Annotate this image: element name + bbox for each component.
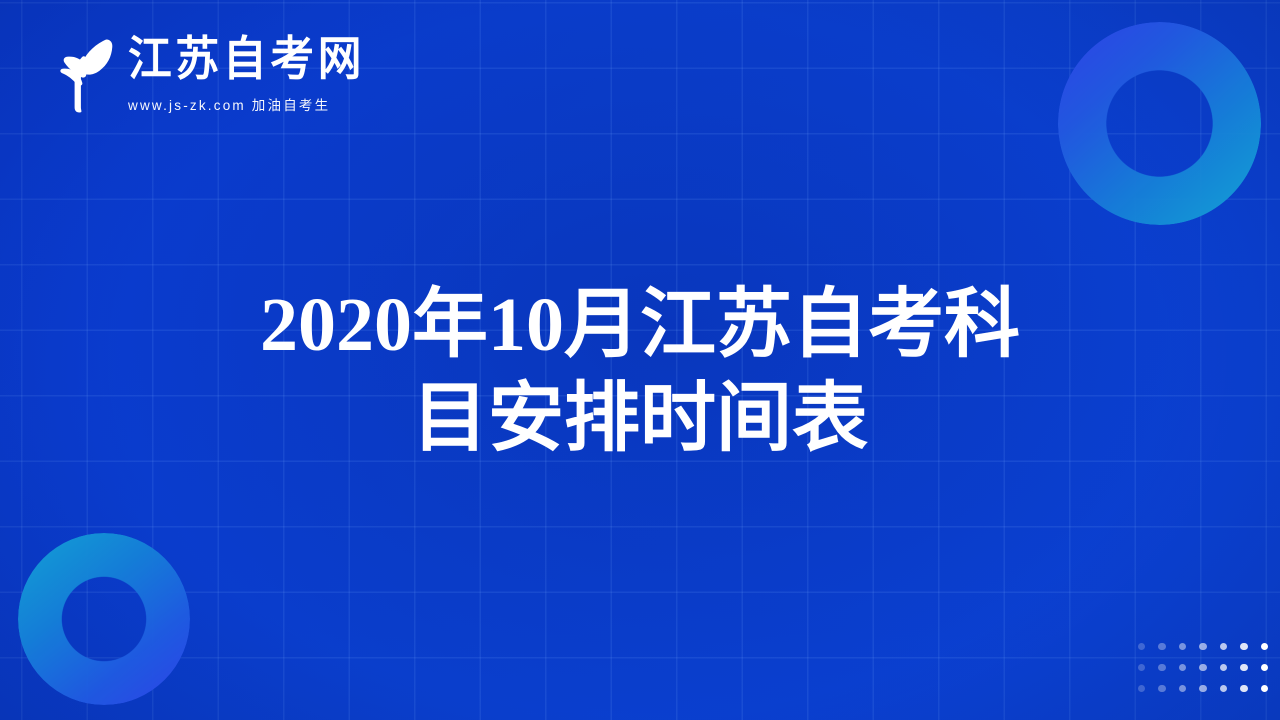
poster-canvas: 江苏自考网 www.js-zk.com 加油自考生 2020年10月江苏自考科 …: [0, 0, 1280, 720]
dot: [1240, 664, 1248, 672]
logo-wordmark: 江苏自考网: [128, 35, 365, 82]
dot: [1240, 643, 1248, 651]
dot-grid-decoration: [1131, 636, 1275, 699]
logo-tagline: www.js-zk.com 加油自考生: [128, 94, 383, 114]
dot: [1261, 664, 1269, 672]
ring-top-right-decoration: [1058, 22, 1261, 225]
logo-text-block: 江苏自考网 www.js-zk.com 加油自考生: [128, 35, 383, 114]
dot: [1240, 685, 1248, 693]
dot: [1158, 664, 1166, 672]
dot: [1138, 643, 1146, 651]
site-logo[interactable]: 江苏自考网 www.js-zk.com 加油自考生: [32, 28, 383, 120]
dot: [1179, 664, 1187, 672]
dot: [1199, 643, 1207, 651]
page-title-line-2: 目安排时间表: [0, 372, 1280, 466]
dot: [1158, 643, 1166, 651]
dot: [1220, 664, 1228, 672]
dot: [1179, 685, 1187, 693]
dot: [1199, 664, 1207, 672]
dot: [1138, 685, 1146, 693]
page-title-line-1: 2020年10月江苏自考科: [0, 278, 1280, 372]
dot: [1220, 643, 1228, 651]
sprout-icon: [32, 28, 124, 120]
dot: [1199, 685, 1207, 693]
dot: [1261, 643, 1269, 651]
page-title: 2020年10月江苏自考科 目安排时间表: [0, 278, 1280, 466]
dot: [1261, 685, 1269, 693]
dot: [1220, 685, 1228, 693]
dot: [1158, 685, 1166, 693]
dot: [1179, 643, 1187, 651]
dot: [1138, 664, 1146, 672]
ring-bottom-left-decoration: [18, 533, 190, 705]
